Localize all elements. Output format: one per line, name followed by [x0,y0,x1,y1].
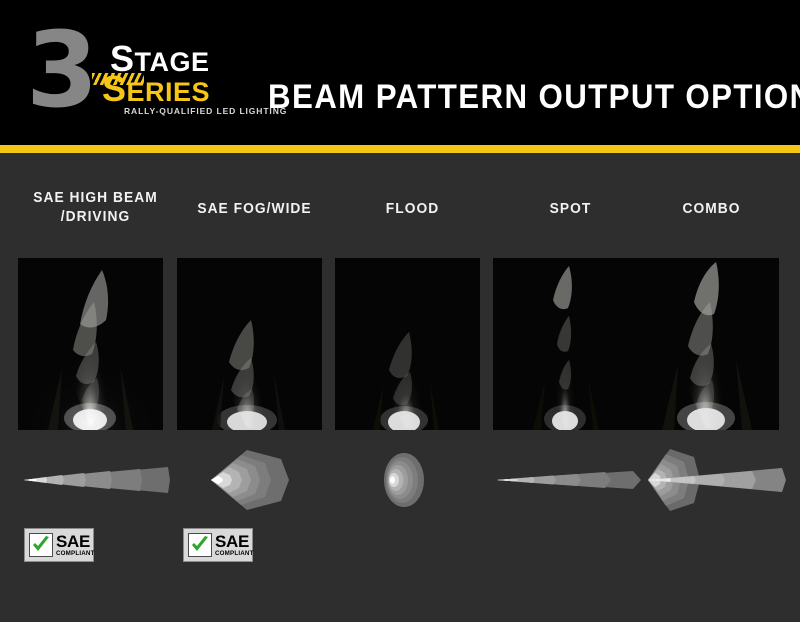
beam-diagram-sae-fog-wide [177,445,332,515]
road-scene-graphic [335,258,480,430]
logo-word-series: SERIES [102,74,210,107]
beam-photo-sae-high-beam-driving [18,258,163,430]
accent-divider [0,145,800,153]
sae-badge-text: SAE COMPLIANT [56,533,95,557]
sae-badge-title: SAE [215,533,254,550]
logo-stage-rest: TAGE [135,47,210,77]
beam-option-label-line2: /DRIVING [22,208,169,227]
sae-compliant-badge: SAE COMPLIANT [183,528,253,562]
beam-option-label: SAE HIGH BEAM /DRIVING [22,189,169,227]
road-scene-graphic [493,258,638,430]
beam-option-sae-high-beam-driving[interactable]: SAE HIGH BEAM /DRIVING [18,153,173,622]
sae-compliant-badge: SAE COMPLIANT [24,528,94,562]
stage-series-logo: 3 STAGE SERIES RALLY-QUALIFIED LED LIGHT… [26,26,241,126]
beam-option-label-line1: SAE HIGH BEAM [22,189,169,208]
road-scene-graphic [177,258,322,430]
logo-tagline: RALLY-QUALIFIED LED LIGHTING [124,106,287,116]
beam-option-combo[interactable]: COMBO [634,153,789,622]
beam-option-label: SAE FOG/WIDE [181,200,328,219]
beam-option-label-line1: COMBO [638,200,785,219]
beam-photo-combo [634,258,779,430]
beam-option-flood[interactable]: FLOOD [335,153,490,622]
beam-photo-flood [335,258,480,430]
sae-badge-subtitle: COMPLIANT [56,551,95,557]
beam-diagram-combo [634,445,789,515]
beam-photo-spot [493,258,638,430]
page-title: BEAM PATTERN OUTPUT OPTIONS [268,78,746,117]
beam-pattern-infographic: 3 STAGE SERIES RALLY-QUALIFIED LED LIGHT… [0,0,800,622]
sae-badge-subtitle: COMPLIANT [215,551,254,557]
beam-option-sae-fog-wide[interactable]: SAE FOG/WIDE [177,153,332,622]
beam-diagram-flood [335,445,490,515]
beam-photo-sae-fog-wide [177,258,322,430]
logo-series-cap: S [102,68,127,109]
logo-series-rest: ERIES [127,77,211,107]
road-scene-graphic [634,258,779,430]
beam-option-label: SPOT [497,200,644,219]
beam-options-row: SAE HIGH BEAM /DRIVING [0,153,800,622]
beam-diagram-sae-high-beam-driving [18,445,173,515]
beam-option-label-line1: SPOT [497,200,644,219]
beam-option-label-line1: FLOOD [339,200,486,219]
beam-option-spot[interactable]: SPOT [493,153,648,622]
green-check-icon [188,533,212,557]
beam-diagram-spot [493,445,648,515]
sae-badge-title: SAE [56,533,95,550]
beam-option-label: COMBO [638,200,785,219]
beam-option-label-line1: SAE FOG/WIDE [181,200,328,219]
sae-badge-text: SAE COMPLIANT [215,533,254,557]
road-scene-graphic [18,258,163,430]
beam-option-label: FLOOD [339,200,486,219]
green-check-icon [29,533,53,557]
header-bar: 3 STAGE SERIES RALLY-QUALIFIED LED LIGHT… [0,0,800,145]
